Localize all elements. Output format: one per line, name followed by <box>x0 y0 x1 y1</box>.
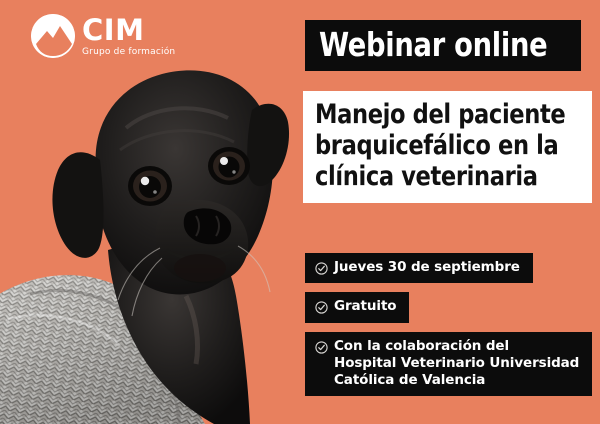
headline-line-2: braquicefálico en la <box>315 131 561 162</box>
check-circle-icon <box>315 341 328 354</box>
logo-text: CIM Grupo de formación <box>82 16 175 57</box>
info-badge-list: Jueves 30 de septiembre Gratuito <box>305 253 592 396</box>
headline-line-1: Manejo del paciente <box>315 100 561 131</box>
badge-text: Gratuito <box>334 298 396 315</box>
info-badge-collaboration: Con la colaboración del Hospital Veterin… <box>305 332 592 397</box>
logo-wordmark: CIM <box>82 16 175 45</box>
badge-text: Jueves 30 de septiembre <box>334 259 520 276</box>
mountain-circle-icon <box>31 14 75 58</box>
headline-panel: Manejo del paciente braquicefálico en la… <box>303 91 592 203</box>
content-column: Webinar online Manejo del paciente braqu… <box>303 0 600 424</box>
badge-line: Con la colaboración del <box>334 338 579 355</box>
info-badge-date: Jueves 30 de septiembre <box>305 253 533 283</box>
headline-line-3: clínica veterinaria <box>315 162 561 193</box>
logo-tagline: Grupo de formación <box>82 48 175 57</box>
check-circle-icon <box>315 262 328 275</box>
dog-photo <box>0 0 300 424</box>
badge-line: Jueves 30 de septiembre <box>334 259 520 276</box>
kicker-banner: Webinar online <box>305 20 581 71</box>
cim-logo: CIM Grupo de formación <box>31 14 175 58</box>
kicker-label: Webinar online <box>319 28 547 61</box>
badge-line: Católica de Valencia <box>334 372 579 389</box>
badge-line: Gratuito <box>334 298 396 315</box>
webinar-poster: CIM Grupo de formación Webinar online Ma… <box>0 0 600 424</box>
info-badge-price: Gratuito <box>305 292 409 322</box>
check-circle-icon <box>315 301 328 314</box>
badge-line: Hospital Veterinario Universidad <box>334 355 579 372</box>
badge-text: Con la colaboración del Hospital Veterin… <box>334 338 579 390</box>
